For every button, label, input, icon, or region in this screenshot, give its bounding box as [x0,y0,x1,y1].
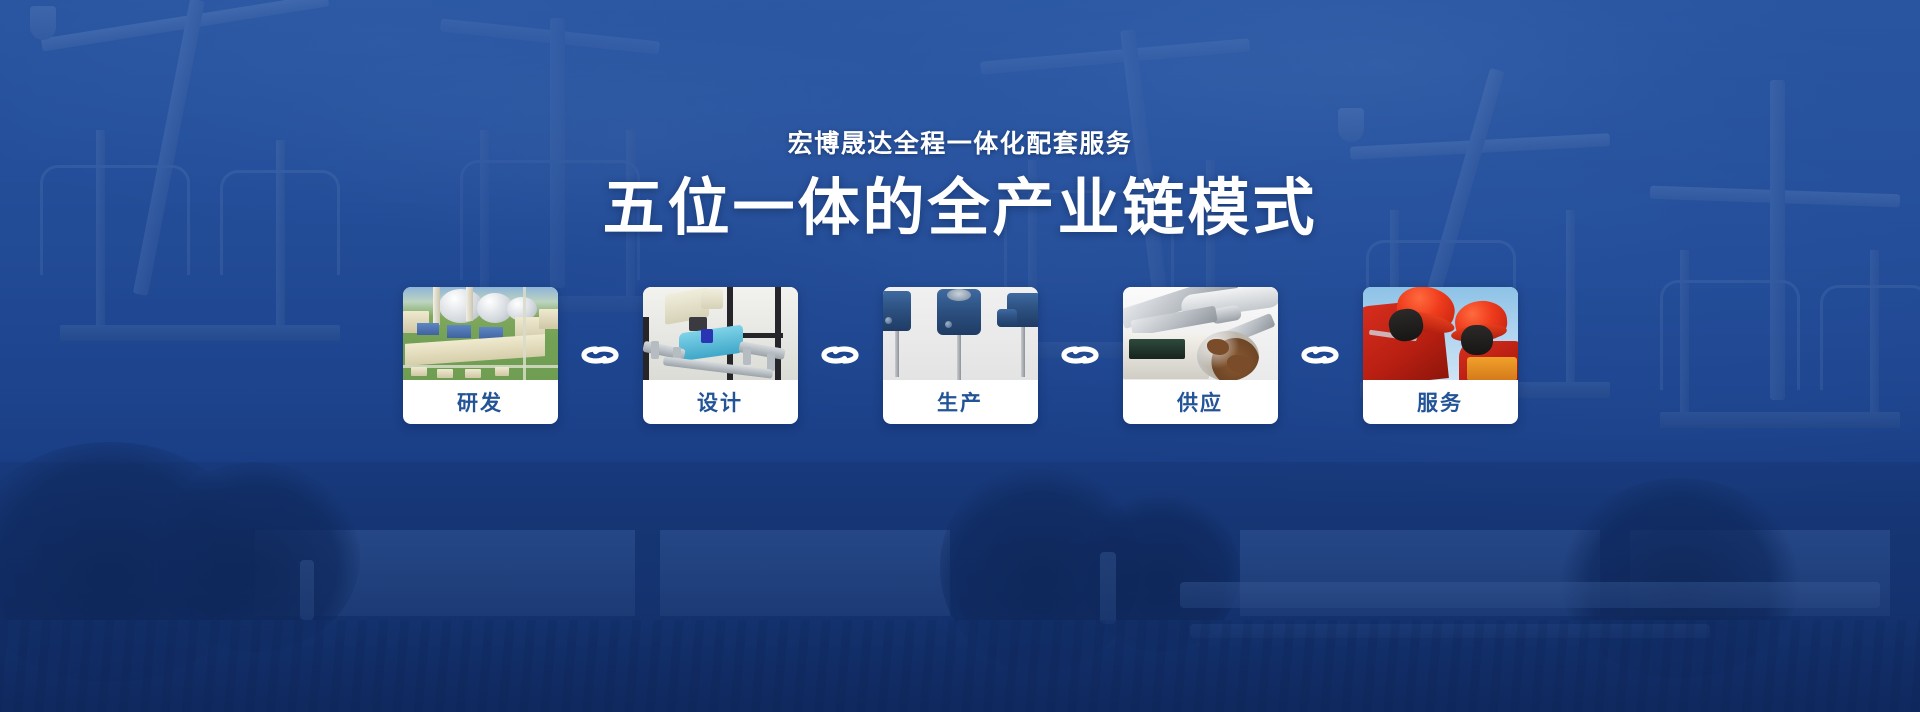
chain-step-label-1: 研发 [403,380,558,424]
chain-link-icon [819,342,861,368]
chain-step-card-5[interactable]: 服务 [1363,287,1518,424]
blue-level-sensors-photo [883,287,1038,380]
chain-step-label-3: 生产 [883,380,1038,424]
hero-banner: 宏博晟达全程一体化配套服务 五位一体的全产业链模式 [0,0,1920,712]
chain-link-icon [1299,342,1341,368]
chain-step-card-4[interactable]: 供应 [1123,287,1278,424]
chain-step-label-2: 设计 [643,380,798,424]
banner-subtitle: 宏博晟达全程一体化配套服务 [788,124,1133,160]
chain-step-card-2[interactable]: 设计 [643,287,798,424]
chain-step-card-3[interactable]: 生产 [883,287,1038,424]
chain-connector-2 [798,287,883,424]
industrial-plant-aerial-photo [403,287,558,380]
value-chain-row: 研发 [403,287,1518,424]
banner-content: 宏博晟达全程一体化配套服务 五位一体的全产业链模式 [0,0,1920,712]
banner-title: 五位一体的全产业链模式 [602,176,1317,243]
chain-connector-4 [1278,287,1363,424]
cad-machinery-render-photo [643,287,798,380]
chain-step-card-1[interactable]: 研发 [403,287,558,424]
airplane-truck-globe-logistics-photo [1123,287,1278,380]
workers-red-safety-gear-photo [1363,287,1518,380]
chain-step-label-5: 服务 [1363,380,1518,424]
chain-connector-1 [558,287,643,424]
chain-connector-3 [1038,287,1123,424]
chain-link-icon [1059,342,1101,368]
chain-step-label-4: 供应 [1123,380,1278,424]
chain-link-icon [579,342,621,368]
